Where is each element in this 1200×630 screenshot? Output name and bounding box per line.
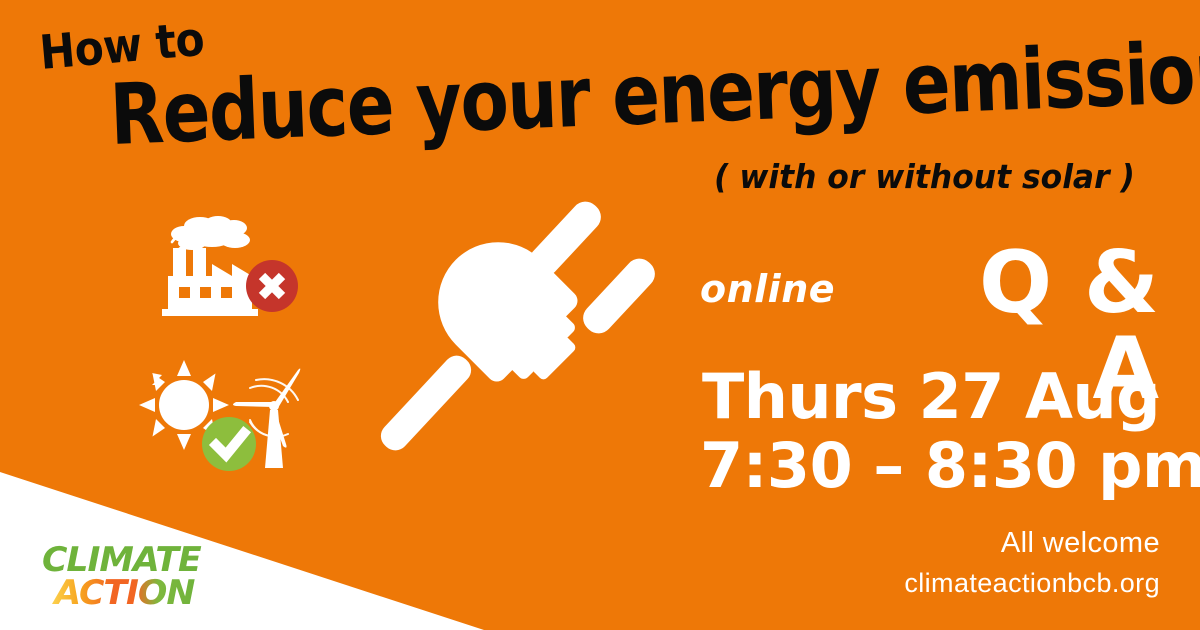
page-title: Reduce your energy emissions xyxy=(108,28,1200,157)
event-audience-note: All welcome xyxy=(700,525,1160,561)
climate-action-logo[interactable]: CLIMATE ACTION xyxy=(42,540,237,612)
electrical-plug-icon xyxy=(372,196,664,458)
headline-block: How to Reduce your energy emissions ( wi… xyxy=(0,0,1200,210)
event-time: 7:30 – 8:30 pm xyxy=(700,431,1160,500)
poster-canvas: How to Reduce your energy emissions ( wi… xyxy=(0,0,1200,630)
event-url[interactable]: climateactionbcb.org xyxy=(700,567,1160,601)
factory-icon xyxy=(152,212,300,324)
logo-line-action: ACTION xyxy=(51,573,195,612)
check-badge xyxy=(202,417,256,471)
headline-subtitle: ( with or without solar ) xyxy=(714,160,1135,193)
qa-row: online Q & A xyxy=(700,240,1160,336)
sun-and-wind-turbine-icon xyxy=(132,358,317,473)
cross-badge xyxy=(246,260,298,312)
event-date: Thurs 27 Aug xyxy=(700,362,1160,431)
event-format-label: online xyxy=(700,267,835,311)
event-info-column: online Q & A Thurs 27 Aug 7:30 – 8:30 pm… xyxy=(700,240,1160,601)
